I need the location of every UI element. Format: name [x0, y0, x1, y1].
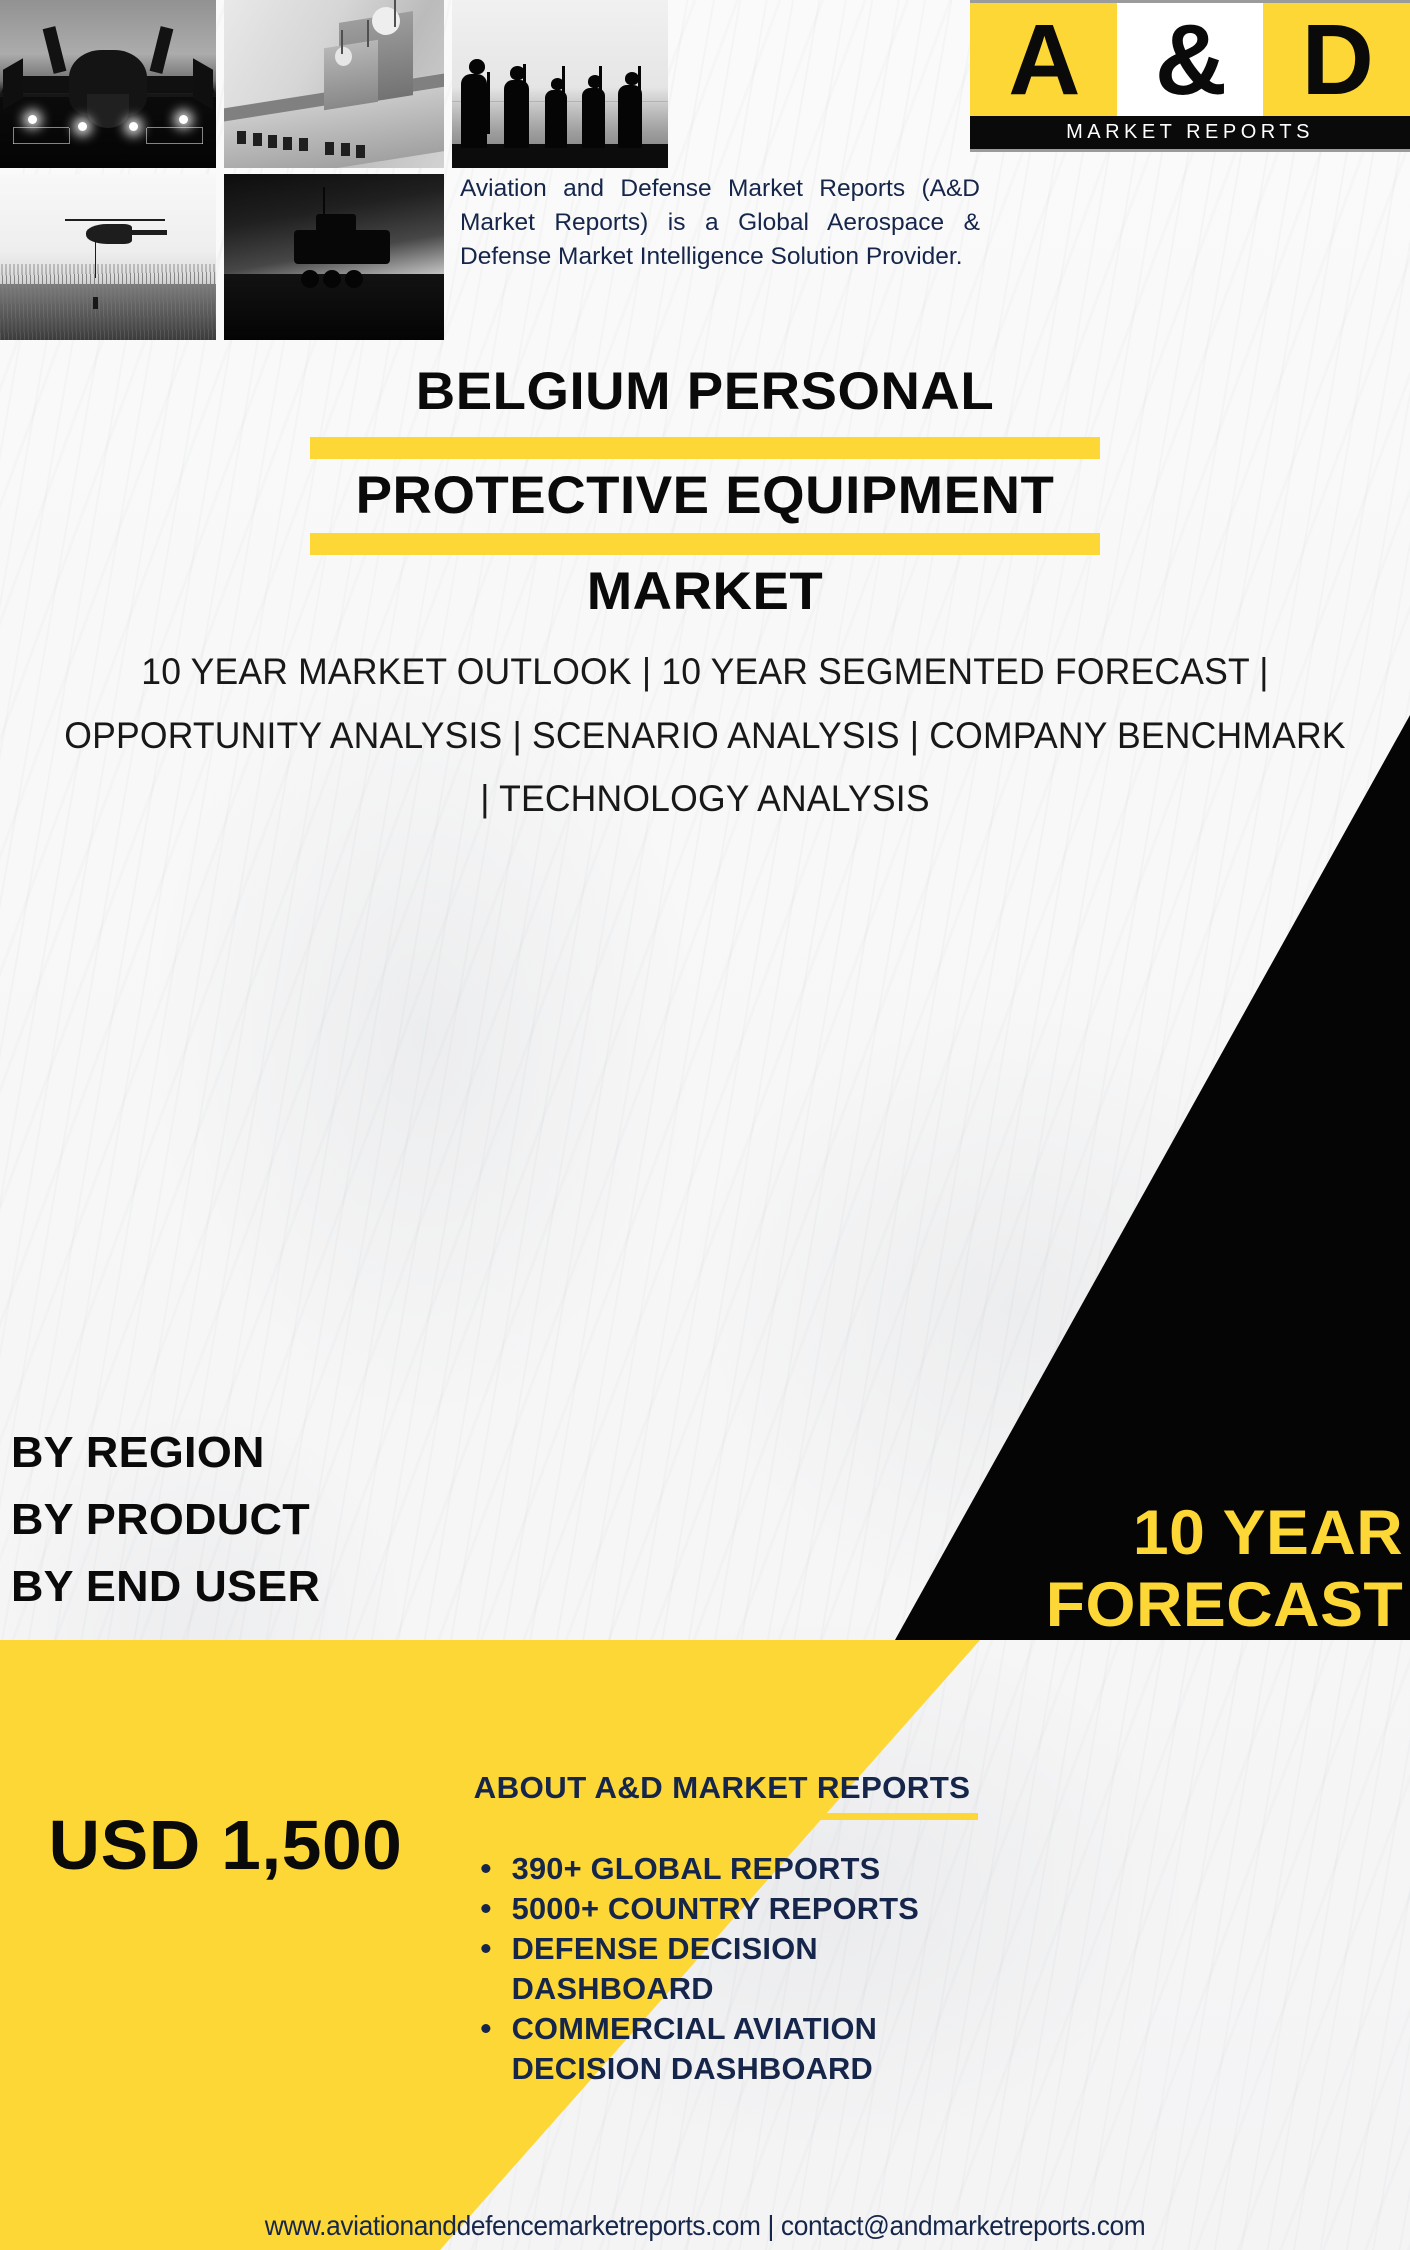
logo-letter-ampersand: & [1155, 10, 1225, 110]
title-divider-bar-bottom [310, 533, 1100, 555]
forecast-badge: 10 YEAR FORECAST [873, 1498, 1403, 1642]
logo-cell-ampersand: & [1117, 3, 1264, 116]
segment-item-end-user: BY END USER [11, 1554, 320, 1621]
report-poster: A & D MARKET REPORTS Aviation and Defens… [0, 0, 1410, 2250]
report-title-line-2: PROTECTIVE EQUIPMENT [0, 466, 1410, 525]
logo-letter-d: D [1302, 10, 1372, 110]
brand-logo: A & D MARKET REPORTS [970, 0, 1410, 152]
logo-tagline-bar: MARKET REPORTS [970, 116, 1410, 149]
about-section: ABOUT A&D MARKET REPORTS 390+ GLOBAL REP… [452, 1770, 992, 2090]
segmentation-list: BY REGION BY PRODUCT BY END USER [14, 1420, 317, 1621]
photo-helicopter-over-field [0, 174, 216, 340]
about-heading-underline [462, 1813, 978, 1820]
about-bullet-defense-dashboard: DEFENSE DECISION DASHBOARD [512, 1930, 995, 2010]
segment-item-region: BY REGION [11, 1420, 320, 1487]
footer-contact: www.aviationanddefencemarketreports.com … [42, 2210, 1367, 2242]
price-value: USD 1,500 [49, 1805, 403, 1885]
report-scope-subtitle: 10 YEAR MARKET OUTLOOK | 10 YEAR SEGMENT… [55, 640, 1355, 831]
logo-letters: A & D [970, 3, 1410, 116]
report-title: BELGIUM PERSONAL PROTECTIVE EQUIPMENT MA… [0, 362, 1410, 621]
logo-cell-d: D [1263, 3, 1410, 116]
forecast-badge-line-1: 10 YEAR [873, 1498, 1403, 1570]
about-bullet-country-reports: 5000+ COUNTRY REPORTS [512, 1890, 995, 1930]
photo-fighter-jet-on-carrier-deck [0, 0, 216, 168]
report-title-line-3: MARKET [0, 562, 1410, 621]
company-intro-paragraph: Aviation and Defense Market Reports (A&D… [460, 172, 980, 273]
about-bullet-list: 390+ GLOBAL REPORTS 5000+ COUNTRY REPORT… [452, 1850, 992, 2090]
logo-tagline: MARKET REPORTS [1066, 121, 1314, 144]
photo-armored-vehicle-on-ridge [224, 174, 444, 340]
about-heading: ABOUT A&D MARKET REPORTS [449, 1770, 994, 1806]
photo-aircraft-carrier-island [224, 0, 444, 168]
photo-grid [0, 0, 444, 340]
logo-cell-a: A [970, 3, 1117, 116]
photo-soldiers-silhouette [452, 0, 668, 168]
forecast-badge-line-2: FORECAST [873, 1570, 1403, 1642]
report-title-line-1: BELGIUM PERSONAL [0, 362, 1410, 421]
segment-item-product: BY PRODUCT [11, 1487, 320, 1554]
about-bullet-commercial-aviation-dashboard: COMMERCIAL AVIATION DECISION DASHBOARD [512, 2010, 995, 2090]
logo-letter-a: A [1008, 10, 1078, 110]
title-divider-bar-top [310, 437, 1100, 459]
about-bullet-global-reports: 390+ GLOBAL REPORTS [512, 1850, 995, 1890]
